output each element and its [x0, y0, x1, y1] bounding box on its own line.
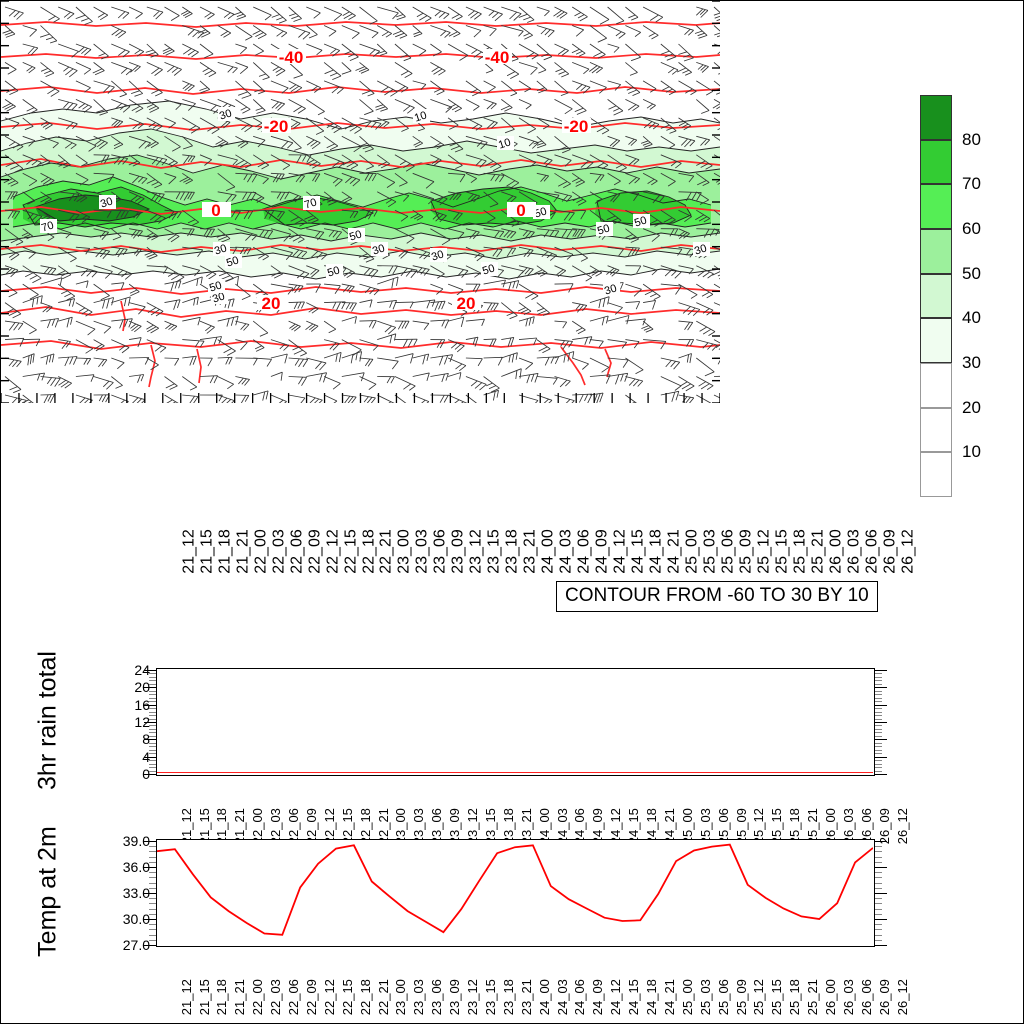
axis-tick	[875, 903, 882, 904]
x-tick-label: 25_06	[719, 529, 737, 574]
axis-tick	[875, 771, 882, 772]
axis-tick	[149, 924, 156, 925]
colorbar-tick-label: 70	[962, 174, 981, 194]
colorbar-cell	[920, 95, 952, 140]
x-tick-label: 23_03	[411, 979, 426, 1015]
x-tick-label: 23_21	[522, 529, 540, 574]
axis-tick	[875, 708, 882, 709]
x-tick-label: 21_15	[197, 979, 212, 1015]
x-tick-label: 21_21	[234, 529, 252, 574]
axis-tick	[875, 862, 882, 863]
x-tick-label: 23_03	[414, 529, 432, 574]
axis-tick	[875, 691, 882, 692]
axis-tick	[149, 935, 156, 936]
axis-tick	[875, 684, 882, 685]
x-tick-label: 26_09	[877, 979, 892, 1015]
x-tick-label: 23_09	[450, 529, 468, 574]
axis-tick	[149, 851, 156, 852]
axis-tick	[149, 736, 156, 737]
x-tick-label: 24_15	[629, 529, 647, 574]
x-tick-label: 22_09	[306, 529, 324, 574]
x-tick-label: 26_06	[863, 529, 881, 574]
colorbar-cell	[920, 318, 952, 363]
axis-tick	[149, 883, 156, 884]
axis-tick	[875, 753, 882, 754]
axis-tick	[149, 729, 156, 730]
colorbar-cell	[920, 363, 952, 408]
axis-tick	[144, 670, 156, 671]
axis-tick	[149, 888, 156, 889]
x-tick-label: 23_09	[447, 979, 462, 1015]
humidity-colorbar: 1020304050607080	[920, 95, 952, 497]
axis-tick	[149, 743, 156, 744]
x-tick-label: 25_12	[752, 979, 767, 1015]
axis-tick	[875, 867, 887, 868]
x-tick-label: 26_09	[881, 529, 899, 574]
axis-tick	[875, 687, 887, 688]
main-x-axis-labels: 21_1221_1521_1821_2122_0022_0322_0622_09…	[152, 503, 871, 565]
x-tick-label: 26_06	[859, 979, 874, 1015]
contour-label-red: 0	[211, 201, 220, 220]
axis-tick	[149, 725, 156, 726]
x-tick-label: 21_12	[180, 529, 198, 574]
axis-tick	[144, 705, 156, 706]
axis-tick	[144, 757, 156, 758]
axis-tick	[875, 732, 882, 733]
x-tick-label: 26_03	[845, 529, 863, 574]
axis-tick	[875, 924, 882, 925]
axis-tick	[149, 701, 156, 702]
x-tick-label: 25_18	[787, 979, 802, 1015]
axis-tick	[875, 719, 882, 720]
axis-tick	[149, 746, 156, 747]
temp-panel	[156, 839, 875, 947]
x-tick-label: 25_21	[809, 529, 827, 574]
contour-label-red: -20	[264, 117, 289, 136]
axis-tick	[875, 919, 887, 920]
x-tick-label: 25_09	[734, 979, 749, 1015]
axis-tick	[149, 767, 156, 768]
axis-tick	[875, 857, 882, 858]
colorbar-tick-label: 10	[962, 442, 981, 462]
x-tick-label: 26_12	[895, 979, 910, 1015]
colorbar-tick-label: 50	[962, 264, 981, 284]
axis-tick	[875, 680, 882, 681]
x-tick-label: 25_03	[701, 529, 719, 574]
axis-tick	[149, 771, 156, 772]
contour-label-red: 20	[262, 294, 281, 313]
axis-tick	[875, 929, 882, 930]
temp-y-axis-labels: 27.030.033.036.039.0	[90, 839, 150, 947]
axis-tick	[149, 680, 156, 681]
axis-tick	[875, 746, 882, 747]
x-tick-label: 23_18	[501, 979, 516, 1015]
x-tick-label: 25_00	[683, 529, 701, 574]
x-tick-label: 22_03	[268, 979, 283, 1015]
temp-x-axis-labels: 21_1221_1521_1821_2122_0022_0322_0622_09…	[156, 957, 872, 1019]
axis-tick	[144, 722, 156, 723]
axis-tick	[149, 753, 156, 754]
axis-tick	[875, 851, 882, 852]
axis-tick	[144, 893, 156, 894]
rain-series-svg	[157, 669, 873, 773]
axis-tick	[875, 940, 882, 941]
x-tick-label: 23_21	[519, 979, 534, 1015]
axis-tick	[144, 687, 156, 688]
axis-tick	[149, 698, 156, 699]
axis-tick	[149, 872, 156, 873]
colorbar-tick-label: 60	[962, 219, 981, 239]
x-tick-label: 23_00	[394, 979, 409, 1015]
x-tick-label: 22_18	[358, 979, 373, 1015]
colorbar-cell	[920, 452, 952, 497]
colorbar-tick-label: 20	[962, 398, 981, 418]
colorbar-cell	[920, 229, 952, 274]
axis-tick	[875, 705, 887, 706]
axis-tick	[149, 719, 156, 720]
axis-tick	[149, 684, 156, 685]
rain-y-axis-labels: 04812162024	[90, 668, 150, 776]
x-tick-label: 24_12	[611, 529, 629, 574]
x-tick-label: 23_12	[465, 979, 480, 1015]
x-tick-label: 22_03	[270, 529, 288, 574]
x-tick-label: 22_21	[376, 979, 391, 1015]
axis-tick	[875, 743, 882, 744]
contour-note: CONTOUR FROM -60 TO 30 BY 10	[556, 581, 878, 612]
x-tick-label: 24_06	[573, 979, 588, 1015]
axis-tick	[875, 846, 882, 847]
axis-tick	[149, 677, 156, 678]
x-tick-label: 21_18	[216, 529, 234, 574]
colorbar-cell	[920, 184, 952, 229]
x-tick-label: 22_00	[250, 979, 265, 1015]
axis-tick	[875, 774, 887, 775]
axis-tick	[149, 732, 156, 733]
x-tick-label: 24_06	[575, 529, 593, 574]
axis-tick	[149, 903, 156, 904]
x-tick-label: 26_12	[895, 808, 910, 844]
axis-tick	[149, 909, 156, 910]
axis-tick	[149, 694, 156, 695]
colorbar-cell	[920, 408, 952, 453]
contour-label-red: -40	[485, 48, 510, 67]
rain-panel	[156, 668, 875, 776]
temp-series-svg	[157, 840, 873, 944]
x-tick-label: 26_00	[823, 979, 838, 1015]
x-tick-label: 22_06	[288, 529, 306, 574]
axis-tick	[149, 898, 156, 899]
x-tick-label: 23_15	[483, 979, 498, 1015]
axis-tick	[875, 715, 882, 716]
axis-tick	[875, 736, 882, 737]
axis-tick	[875, 935, 882, 936]
x-tick-label: 24_00	[540, 529, 558, 574]
contour-label-red: 0	[516, 201, 525, 220]
x-tick-label: 26_09	[877, 808, 892, 844]
axis-tick	[875, 750, 882, 751]
x-tick-label: 24_00	[537, 979, 552, 1015]
x-tick-label: 22_18	[360, 529, 378, 574]
colorbar-cell	[920, 274, 952, 319]
contour-label-red: 20	[457, 294, 476, 313]
temp-panel-title: Temp at 2m	[34, 772, 63, 1012]
axis-tick	[144, 841, 156, 842]
axis-tick	[144, 919, 156, 920]
axis-tick	[144, 867, 156, 868]
x-tick-label: 25_06	[716, 979, 731, 1015]
contour-label-red: -20	[564, 117, 589, 136]
x-tick-label: 24_15	[626, 979, 641, 1015]
axis-tick	[875, 945, 887, 946]
axis-tick	[149, 877, 156, 878]
axis-tick	[875, 898, 882, 899]
axis-tick	[875, 883, 882, 884]
axis-tick	[875, 701, 882, 702]
x-tick-label: 23_06	[432, 529, 450, 574]
x-tick-label: 24_03	[555, 979, 570, 1015]
colorbar-tick-label: 80	[962, 130, 981, 150]
contour-label-red: -40	[279, 48, 304, 67]
x-tick-label: 24_18	[644, 979, 659, 1015]
x-tick-label: 22_12	[324, 529, 342, 574]
x-tick-label: 22_15	[342, 529, 360, 574]
axis-tick	[875, 872, 882, 873]
axis-tick	[875, 914, 882, 915]
axis-tick	[875, 698, 882, 699]
x-tick-label: 25_09	[737, 529, 755, 574]
axis-tick	[149, 715, 156, 716]
axis-tick	[875, 739, 887, 740]
x-tick-label: 25_15	[773, 529, 791, 574]
x-tick-label: 22_15	[340, 979, 355, 1015]
x-tick-label: 23_12	[468, 529, 486, 574]
axis-tick	[875, 670, 887, 671]
axis-tick	[149, 914, 156, 915]
x-tick-label: 23_06	[429, 979, 444, 1015]
x-tick-label: 22_09	[304, 979, 319, 1015]
x-tick-label: 21_21	[232, 979, 247, 1015]
x-tick-label: 21_15	[198, 529, 216, 574]
axis-tick	[149, 929, 156, 930]
axis-tick	[875, 841, 887, 842]
x-tick-label: 23_15	[486, 529, 504, 574]
x-tick-label: 24_09	[593, 529, 611, 574]
axis-tick	[149, 940, 156, 941]
axis-tick	[875, 893, 887, 894]
x-tick-label: 25_03	[698, 979, 713, 1015]
axis-tick	[144, 739, 156, 740]
x-tick-label: 25_00	[680, 979, 695, 1015]
x-tick-label: 22_06	[286, 979, 301, 1015]
series-line	[157, 845, 873, 935]
axis-tick	[875, 722, 887, 723]
x-tick-label: 25_12	[755, 529, 773, 574]
colorbar-cell	[920, 140, 952, 185]
axis-tick	[875, 757, 887, 758]
x-tick-label: 25_21	[805, 979, 820, 1015]
axis-tick	[144, 945, 156, 946]
x-tick-label: 21_12	[179, 979, 194, 1015]
axis-tick	[875, 888, 882, 889]
axis-tick	[149, 750, 156, 751]
x-tick-label: 22_12	[322, 979, 337, 1015]
colorbar-tick-label: 40	[962, 308, 981, 328]
axis-tick	[149, 764, 156, 765]
x-tick-label: 24_21	[662, 979, 677, 1015]
axis-tick	[875, 764, 882, 765]
axis-tick	[875, 673, 882, 674]
x-tick-label: 24_12	[608, 979, 623, 1015]
x-tick-label: 26_03	[841, 979, 856, 1015]
axis-tick	[875, 677, 882, 678]
axis-tick	[875, 725, 882, 726]
x-tick-label: 22_00	[252, 529, 270, 574]
x-tick-label: 25_15	[769, 979, 784, 1015]
axis-tick	[875, 712, 882, 713]
axis-tick	[149, 760, 156, 761]
x-tick-label: 24_09	[590, 979, 605, 1015]
x-tick-label: 25_18	[791, 529, 809, 574]
humidity-contour-svg: 3050503030707050505050503030303010105030…	[1, 1, 720, 403]
axis-tick	[149, 691, 156, 692]
axis-tick	[875, 694, 882, 695]
main-cross-section-panel: 3050503030707050505050503030303010105030…	[0, 0, 719, 402]
axis-tick	[149, 846, 156, 847]
x-tick-label: 24_21	[665, 529, 683, 574]
x-tick-label: 24_18	[647, 529, 665, 574]
axis-tick	[875, 909, 882, 910]
x-tick-label: 26_00	[827, 529, 845, 574]
axis-tick	[149, 862, 156, 863]
x-tick-label: 23_18	[504, 529, 522, 574]
x-tick-label: 23_00	[396, 529, 414, 574]
axis-tick	[875, 729, 882, 730]
axis-tick	[149, 857, 156, 858]
x-tick-label: 21_18	[215, 979, 230, 1015]
x-tick-label: 24_03	[557, 529, 575, 574]
x-tick-label: 22_21	[378, 529, 396, 574]
colorbar-tick-label: 30	[962, 353, 981, 373]
axis-tick	[875, 877, 882, 878]
axis-tick	[149, 712, 156, 713]
axis-tick	[149, 708, 156, 709]
x-tick-label: 26_12	[899, 529, 917, 574]
axis-tick	[149, 673, 156, 674]
axis-tick	[144, 774, 156, 775]
axis-tick	[875, 760, 882, 761]
axis-tick	[875, 767, 882, 768]
